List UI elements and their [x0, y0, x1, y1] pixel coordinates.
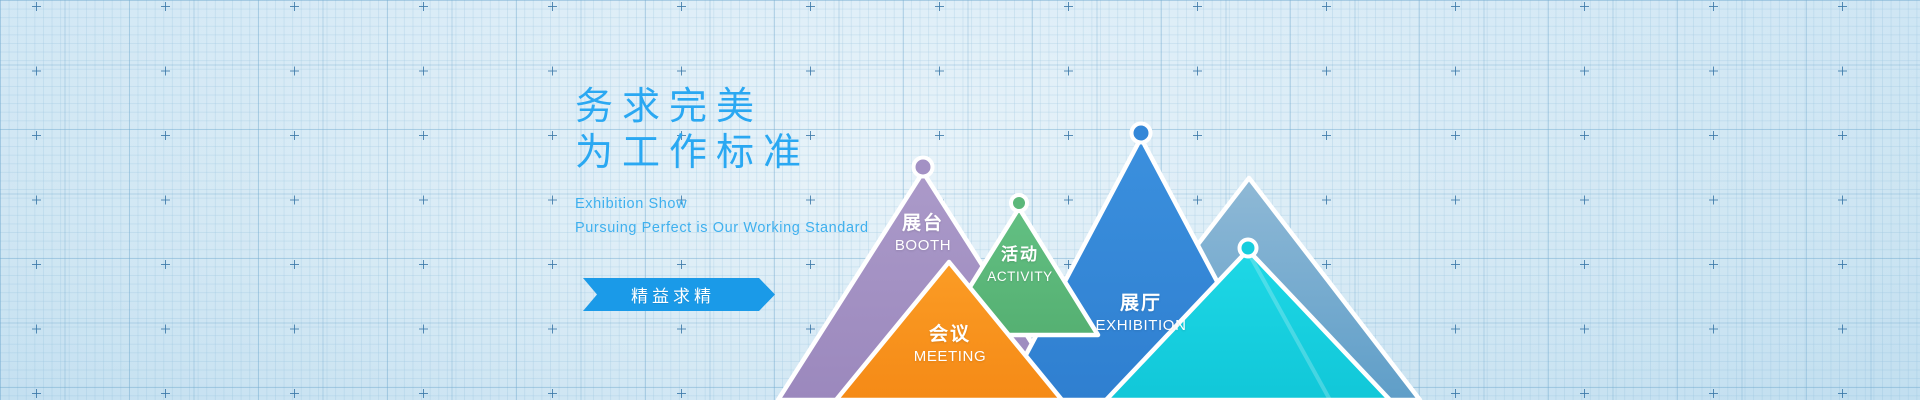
cta-banner-button[interactable]: 精益求精	[583, 278, 775, 311]
peak-marker-booth	[914, 158, 933, 177]
headline-line-2: 为工作标准	[575, 130, 869, 176]
hero-banner: 展台 BOOTH 会议 MEETING 活动 ACTIVITY 展厅 EXHIB…	[0, 0, 1920, 400]
peak-marker-activity	[1011, 195, 1027, 211]
subtitle-line-2: Pursuing Perfect is Our Working Standard	[575, 216, 869, 240]
peak-marker-exhibition	[1132, 124, 1151, 143]
subtitle-line-1: Exhibition Show	[575, 192, 869, 216]
cta-banner-label: 精益求精	[631, 282, 715, 307]
headline-line-1: 务求完美	[575, 84, 869, 130]
hero-copy: 务求完美 为工作标准 Exhibition Show Pursuing Perf…	[575, 84, 869, 240]
mountain-chart: 展台 BOOTH 会议 MEETING 活动 ACTIVITY 展厅 EXHIB…	[0, 0, 1920, 400]
peak-marker-cyan-peak	[1240, 240, 1257, 257]
headline: 务求完美 为工作标准	[575, 84, 869, 176]
subtitle: Exhibition Show Pursuing Perfect is Our …	[575, 192, 869, 240]
